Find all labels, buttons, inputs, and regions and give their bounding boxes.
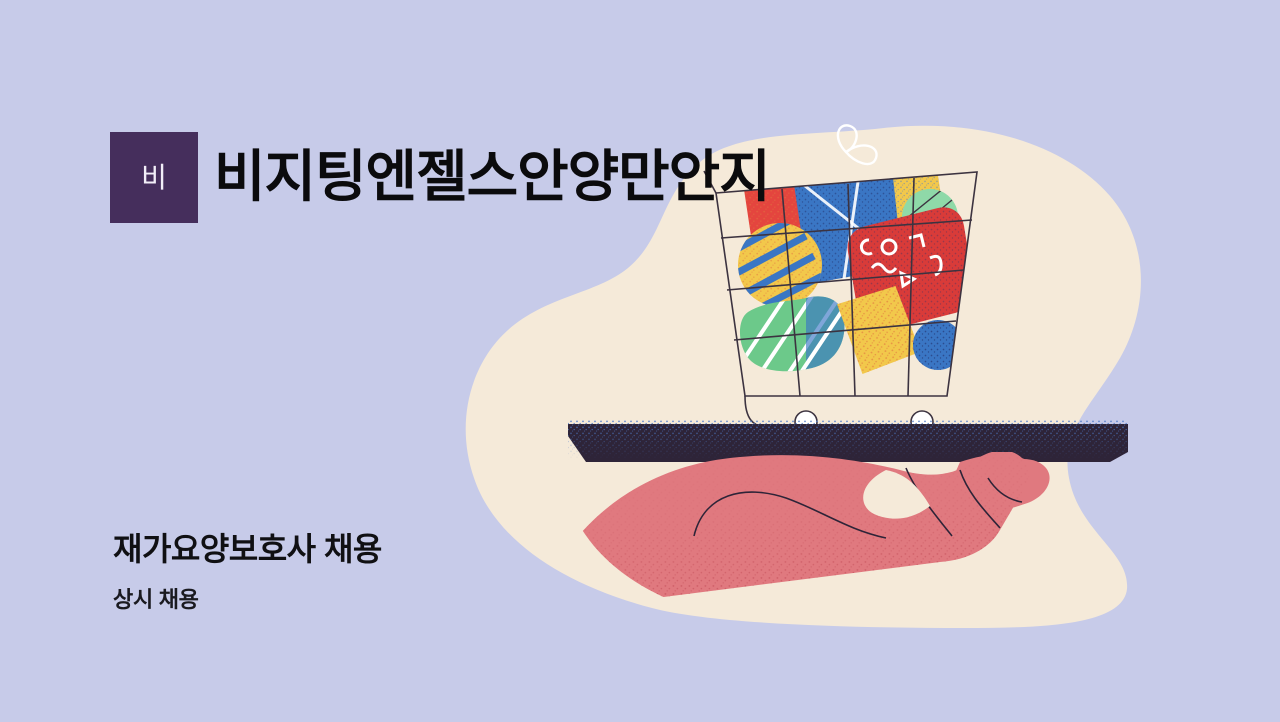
company-name: 비지팅엔젤스안양만안지 <box>214 131 770 223</box>
red-pattern-rounded-rect <box>848 207 975 331</box>
company-logo-badge: 비 <box>110 132 198 223</box>
job-posting-card: 비 비지팅엔젤스안양만안지 재가요양보호사 채용 상시 채용 <box>0 0 1280 722</box>
job-title: 재가요양보호사 채용 <box>113 524 382 570</box>
green-striped-blob <box>730 290 852 392</box>
orange-yellow-diamond <box>836 284 922 376</box>
green-striped-circle <box>902 188 958 250</box>
hand-arm <box>560 450 1050 600</box>
blue-gift-box <box>793 163 909 284</box>
job-subtitle: 상시 채용 <box>113 582 199 614</box>
blue-circle <box>913 320 963 370</box>
cart-wheels <box>795 411 933 433</box>
company-header: 비 비지팅엔젤스안양만안지 <box>110 131 770 223</box>
yellow-small-gift <box>892 162 944 224</box>
white-ribbon-bow <box>838 125 877 164</box>
yellow-striped-circle <box>735 215 822 312</box>
dark-tray-bar <box>568 420 1128 462</box>
